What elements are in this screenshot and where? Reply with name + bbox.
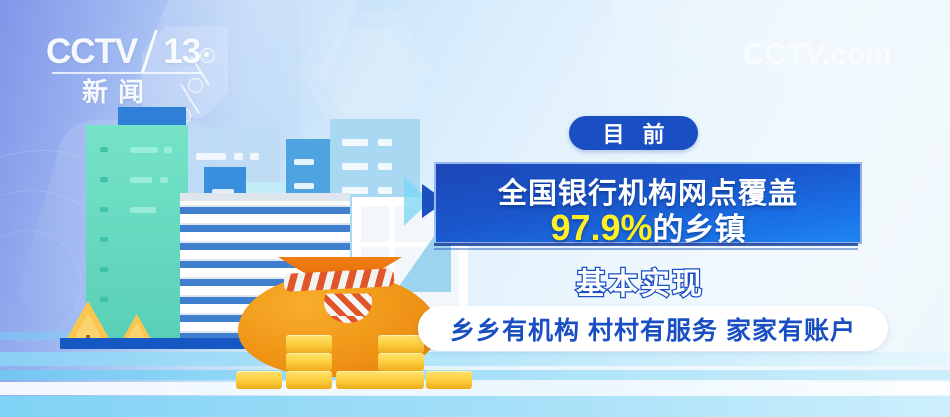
logo-cctv-text: CCTV — [46, 32, 137, 71]
status-badge-label: 目 前 — [596, 117, 670, 149]
headline-banner: 全国银行机构网点覆盖 97.9%的乡镇 — [422, 162, 858, 242]
coin — [286, 335, 332, 353]
building-striped-cap — [180, 193, 350, 201]
headline-banner-underline — [434, 243, 858, 246]
cctv-com-watermark: CCTV.com — [743, 38, 892, 72]
coin — [378, 353, 424, 371]
headline-percent-suffix: 的乡镇 — [653, 212, 746, 247]
headline-banner-underline-secondary — [434, 248, 858, 250]
bottom-band-4 — [0, 382, 950, 395]
coin — [286, 353, 332, 371]
coin — [236, 371, 282, 389]
coin — [336, 371, 382, 389]
headline-banner-box: 全国银行机构网点覆盖 97.9%的乡镇 — [434, 162, 862, 244]
watermark-text: CCTV — [743, 38, 822, 71]
coin — [286, 371, 332, 389]
summary-pill-label: 乡乡有机构 村村有服务 家家有账户 — [450, 311, 856, 347]
coin — [378, 335, 424, 353]
broadcast-graphic-frame: CCTV13 新闻 CCTV.com — [0, 0, 950, 417]
subheadline: 基本实现 — [422, 259, 858, 303]
coin — [378, 371, 424, 389]
status-badge: 目 前 — [569, 116, 698, 150]
coin — [426, 371, 472, 389]
watermark-suffix: .com — [822, 38, 892, 71]
bottom-band-5 — [0, 396, 950, 417]
headline-percent-value: 97.9% — [550, 207, 652, 248]
summary-pill: 乡乡有机构 村村有服务 家家有账户 — [418, 306, 888, 351]
